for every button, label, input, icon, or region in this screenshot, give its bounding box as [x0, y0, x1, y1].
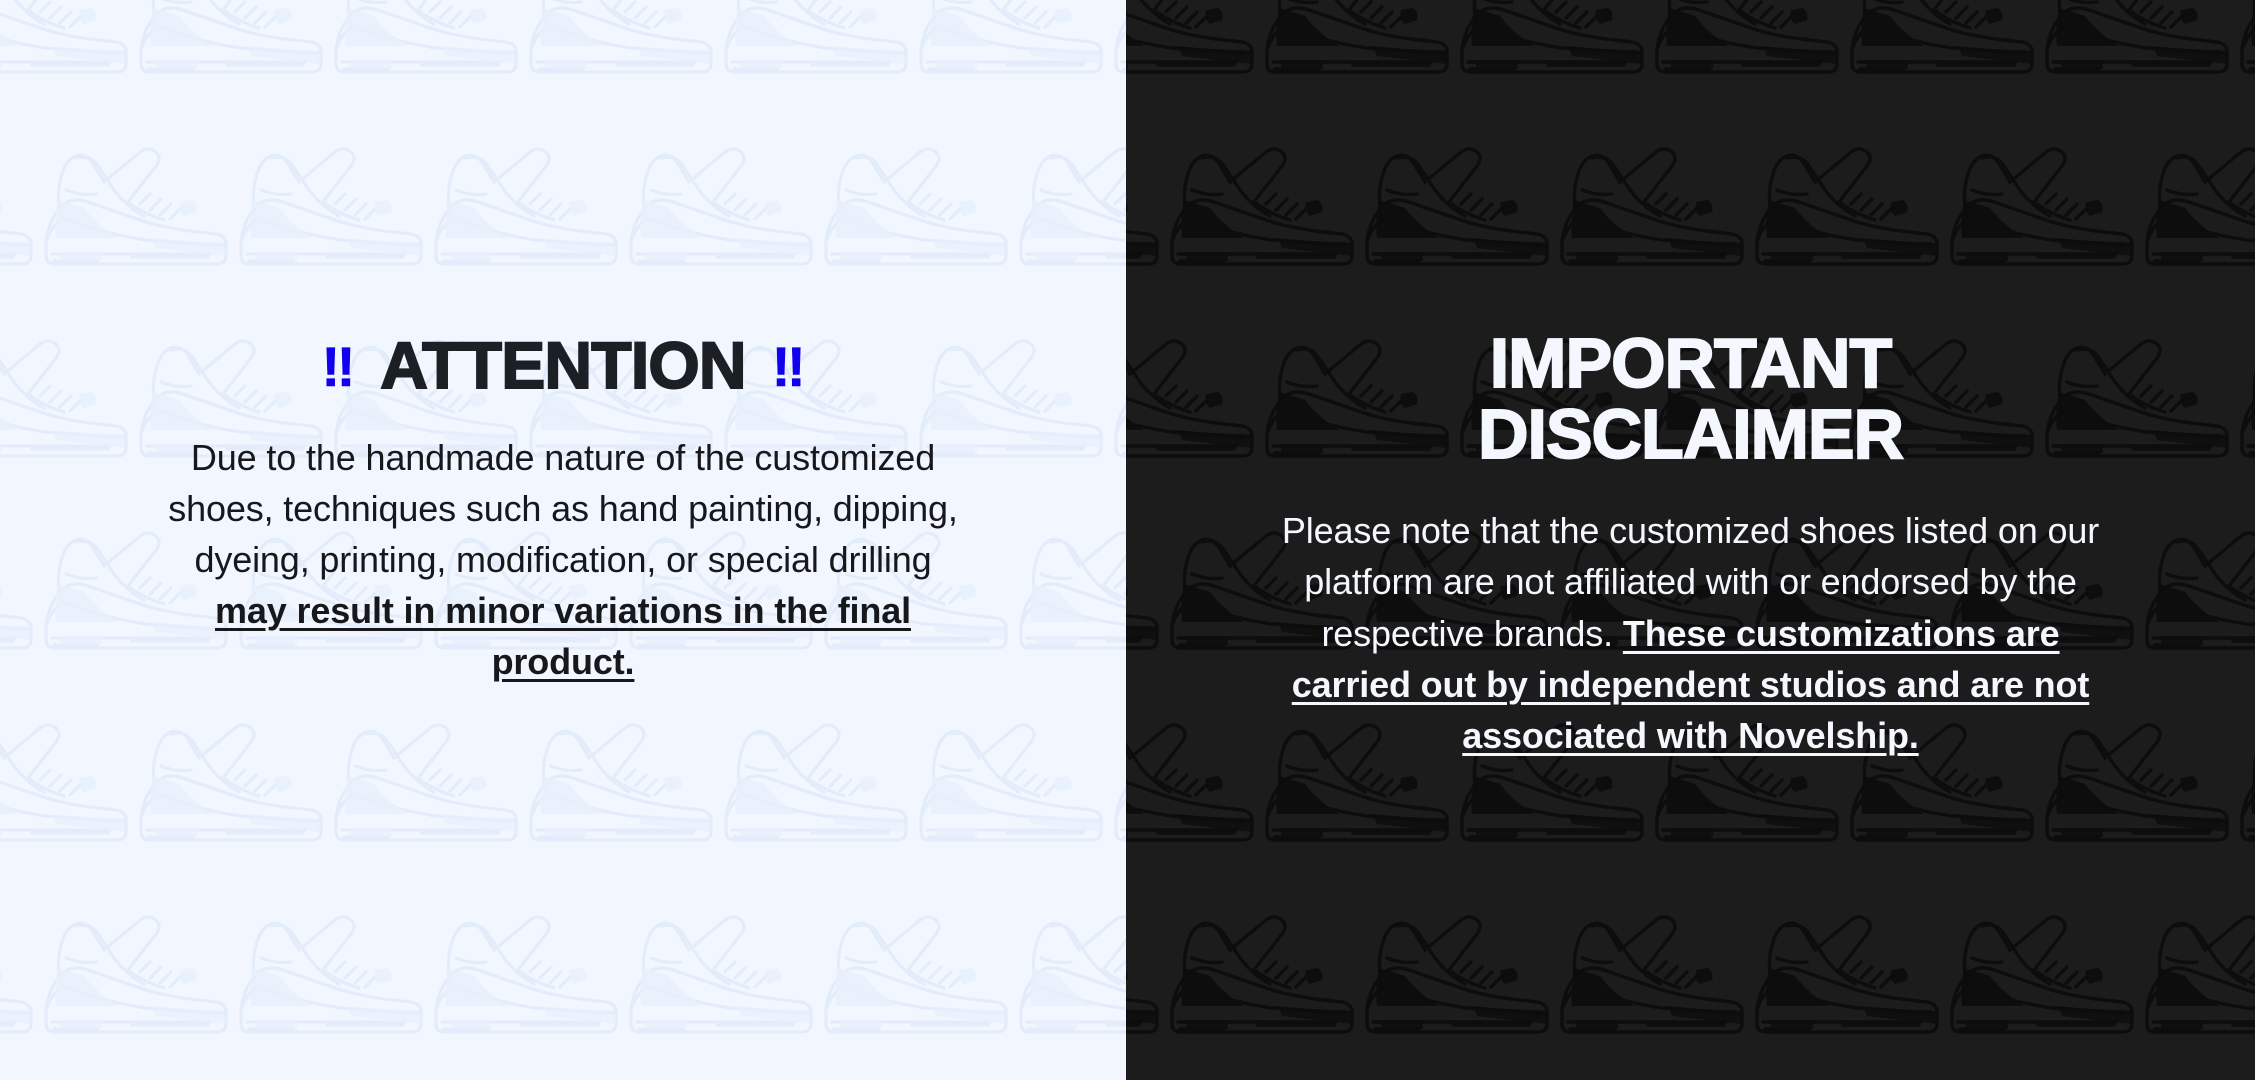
double-exclamation-icon-right: ‼ — [772, 335, 805, 398]
attention-body-emphasis: may result in minor variations in the fi… — [215, 590, 911, 682]
disclaimer-heading-line2: DISCLAIMER — [1478, 395, 1903, 473]
disclaimer-banner: ‼ATTENTION‼ Due to the handmade nature o… — [0, 0, 2255, 1080]
attention-heading-text: ATTENTION — [380, 328, 746, 402]
disclaimer-heading: IMPORTANTDISCLAIMER — [1226, 328, 2155, 469]
attention-body-normal: Due to the handmade nature of the custom… — [168, 437, 958, 580]
disclaimer-body-text: Please note that the customized shoes li… — [1226, 505, 2155, 761]
attention-body-text: Due to the handmade nature of the custom… — [118, 432, 1008, 688]
attention-content: ‼ATTENTION‼ Due to the handmade nature o… — [0, 0, 1126, 687]
disclaimer-heading-line1: IMPORTANT — [1490, 324, 1891, 402]
attention-panel: ‼ATTENTION‼ Due to the handmade nature o… — [0, 0, 1126, 1080]
double-exclamation-icon-left: ‼ — [321, 335, 354, 398]
attention-heading: ‼ATTENTION‼ — [118, 333, 1008, 398]
disclaimer-content: IMPORTANTDISCLAIMER Please note that the… — [1126, 0, 2255, 761]
disclaimer-panel: IMPORTANTDISCLAIMER Please note that the… — [1126, 0, 2255, 1080]
